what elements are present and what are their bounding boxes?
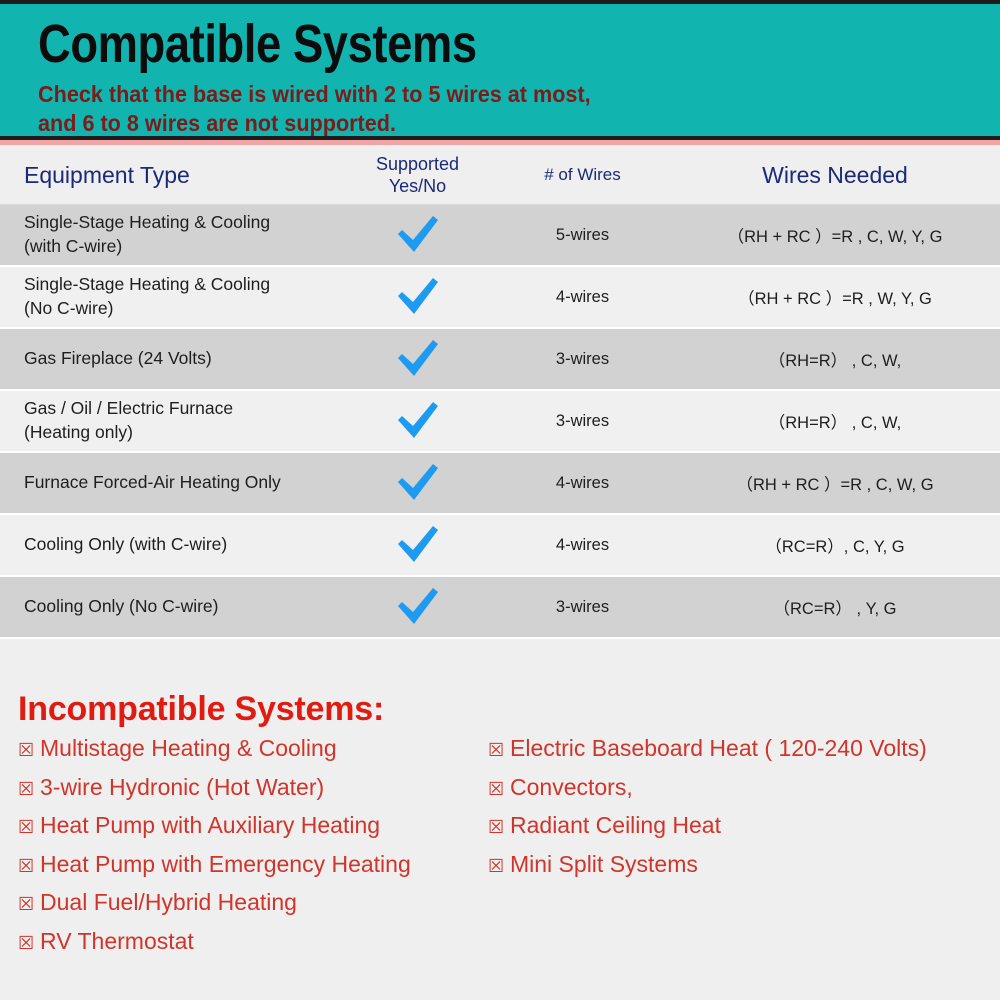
cell-num-wires: 3-wires xyxy=(495,350,670,369)
cell-num-wires: 3-wires xyxy=(495,412,670,431)
incompatible-list-item: ☒3-wire Hydronic (Hot Water) xyxy=(18,774,488,813)
incompatible-item-label: Electric Baseboard Heat ( 120-240 Volts) xyxy=(510,735,927,762)
incompatible-list-item: ☒RV Thermostat xyxy=(18,928,488,967)
cell-equipment-type: Single-Stage Heating & Cooling(No C-wire… xyxy=(0,273,340,320)
cell-equipment-type: Cooling Only (with C-wire) xyxy=(0,533,340,557)
check-icon xyxy=(395,338,441,380)
ballot-box-x-icon: ☒ xyxy=(18,779,40,800)
incompatible-right-column: ☒Electric Baseboard Heat ( 120-240 Volts… xyxy=(488,735,988,889)
cell-wires-needed: （RH=R） , C, W, xyxy=(670,347,1000,371)
cell-wires-needed: （RH + RC ）=R , C, W, G xyxy=(670,471,1000,495)
cell-num-wires: 4-wires xyxy=(495,288,670,307)
table-bottom-spacer xyxy=(0,639,1000,667)
incompatible-list-item: ☒Multistage Heating & Cooling xyxy=(18,735,488,774)
check-icon xyxy=(395,276,441,318)
table-row: Gas / Oil / Electric Furnace(Heating onl… xyxy=(0,391,1000,453)
incompatible-columns: ☒Multistage Heating & Cooling☒3-wire Hyd… xyxy=(0,735,1000,995)
column-header-num-wires: # of Wires xyxy=(495,165,670,185)
table-row: Single-Stage Heating & Cooling(No C-wire… xyxy=(0,267,1000,329)
cell-supported xyxy=(340,462,495,504)
cell-supported xyxy=(340,586,495,628)
cell-num-wires: 5-wires xyxy=(495,226,670,245)
check-icon xyxy=(395,586,441,628)
incompatible-item-label: Mini Split Systems xyxy=(510,851,698,878)
equipment-type-line1: Gas Fireplace (24 Volts) xyxy=(24,347,340,371)
incompatible-item-label: Dual Fuel/Hybrid Heating xyxy=(40,889,297,916)
column-header-supported: Supported Yes/No xyxy=(340,153,495,198)
ballot-box-x-icon: ☒ xyxy=(18,894,40,915)
incompatible-item-label: Convectors, xyxy=(510,774,633,801)
equipment-type-line2: (with C-wire) xyxy=(24,235,340,259)
equipment-type-line1: Cooling Only (No C-wire) xyxy=(24,595,340,619)
incompatible-section: Incompatible Systems: ☒Multistage Heatin… xyxy=(0,690,1000,995)
table-row: Furnace Forced-Air Heating Only4-wires（R… xyxy=(0,453,1000,515)
incompatible-left-column: ☒Multistage Heating & Cooling☒3-wire Hyd… xyxy=(18,735,488,966)
incompatible-item-label: 3-wire Hydronic (Hot Water) xyxy=(40,774,324,801)
incompatible-list-item: ☒Mini Split Systems xyxy=(488,851,988,890)
cell-wires-needed: （RH=R） , C, W, xyxy=(670,409,1000,433)
cell-supported xyxy=(340,214,495,256)
equipment-type-line1: Single-Stage Heating & Cooling xyxy=(24,273,340,297)
check-icon xyxy=(395,524,441,566)
check-icon xyxy=(395,400,441,442)
cell-equipment-type: Furnace Forced-Air Heating Only xyxy=(0,471,340,495)
incompatible-item-label: Heat Pump with Auxiliary Heating xyxy=(40,812,380,839)
cell-wires-needed: （RH + RC ）=R , C, W, Y, G xyxy=(670,223,1000,247)
incompatible-title: Incompatible Systems: xyxy=(0,690,1000,729)
table-row: Cooling Only (with C-wire)4-wires（RC=R）,… xyxy=(0,515,1000,577)
cell-wires-needed: （RC=R）, C, Y, G xyxy=(670,533,1000,557)
cell-num-wires: 4-wires xyxy=(495,536,670,555)
column-header-supported-line2: Yes/No xyxy=(340,175,495,198)
equipment-type-line2: (No C-wire) xyxy=(24,297,340,321)
ballot-box-x-icon: ☒ xyxy=(488,779,510,800)
table-header-row: Equipment Type Supported Yes/No # of Wir… xyxy=(0,146,1000,205)
cell-supported xyxy=(340,400,495,442)
table-body: Single-Stage Heating & Cooling(with C-wi… xyxy=(0,205,1000,639)
banner-subtitle: Check that the base is wired with 2 to 5… xyxy=(38,80,591,139)
ballot-box-x-icon: ☒ xyxy=(18,740,40,761)
check-icon xyxy=(395,214,441,256)
incompatible-list-item: ☒Electric Baseboard Heat ( 120-240 Volts… xyxy=(488,735,988,774)
cell-equipment-type: Cooling Only (No C-wire) xyxy=(0,595,340,619)
incompatible-item-label: RV Thermostat xyxy=(40,928,194,955)
check-icon xyxy=(395,462,441,504)
incompatible-list-item: ☒Dual Fuel/Hybrid Heating xyxy=(18,889,488,928)
banner-subtitle-line2: and 6 to 8 wires are not supported. xyxy=(38,109,591,138)
incompatible-item-label: Heat Pump with Emergency Heating xyxy=(40,851,411,878)
header-banner: Compatible Systems Check that the base i… xyxy=(0,0,1000,140)
cell-equipment-type: Gas Fireplace (24 Volts) xyxy=(0,347,340,371)
incompatible-list-item: ☒Radiant Ceiling Heat xyxy=(488,812,988,851)
ballot-box-x-icon: ☒ xyxy=(18,856,40,877)
compatibility-infographic: Compatible Systems Check that the base i… xyxy=(0,0,1000,1000)
equipment-type-line2: (Heating only) xyxy=(24,421,340,445)
compatibility-table: Equipment Type Supported Yes/No # of Wir… xyxy=(0,146,1000,667)
incompatible-list-item: ☒Heat Pump with Auxiliary Heating xyxy=(18,812,488,851)
table-row: Single-Stage Heating & Cooling(with C-wi… xyxy=(0,205,1000,267)
ballot-box-x-icon: ☒ xyxy=(488,817,510,838)
cell-wires-needed: （RH + RC ）=R , W, Y, G xyxy=(670,285,1000,309)
incompatible-list-item: ☒Heat Pump with Emergency Heating xyxy=(18,851,488,890)
cell-wires-needed: （RC=R） , Y, G xyxy=(670,595,1000,619)
equipment-type-line1: Furnace Forced-Air Heating Only xyxy=(24,471,340,495)
page-title: Compatible Systems xyxy=(38,16,477,73)
cell-num-wires: 3-wires xyxy=(495,598,670,617)
incompatible-list-item: ☒Convectors, xyxy=(488,774,988,813)
cell-supported xyxy=(340,338,495,380)
equipment-type-line1: Cooling Only (with C-wire) xyxy=(24,533,340,557)
cell-equipment-type: Gas / Oil / Electric Furnace(Heating onl… xyxy=(0,397,340,444)
cell-supported xyxy=(340,276,495,318)
incompatible-item-label: Radiant Ceiling Heat xyxy=(510,812,721,839)
column-header-supported-line1: Supported xyxy=(340,153,495,176)
banner-underline xyxy=(0,140,1000,145)
equipment-type-line1: Single-Stage Heating & Cooling xyxy=(24,211,340,235)
incompatible-item-label: Multistage Heating & Cooling xyxy=(40,735,337,762)
equipment-type-line1: Gas / Oil / Electric Furnace xyxy=(24,397,340,421)
column-header-equipment-type: Equipment Type xyxy=(0,162,340,189)
ballot-box-x-icon: ☒ xyxy=(18,933,40,954)
cell-supported xyxy=(340,524,495,566)
column-header-wires-needed: Wires Needed xyxy=(670,162,1000,189)
cell-equipment-type: Single-Stage Heating & Cooling(with C-wi… xyxy=(0,211,340,258)
table-row: Gas Fireplace (24 Volts)3-wires（RH=R） , … xyxy=(0,329,1000,391)
table-row: Cooling Only (No C-wire)3-wires（RC=R） , … xyxy=(0,577,1000,639)
ballot-box-x-icon: ☒ xyxy=(488,856,510,877)
cell-num-wires: 4-wires xyxy=(495,474,670,493)
ballot-box-x-icon: ☒ xyxy=(18,817,40,838)
banner-subtitle-line1: Check that the base is wired with 2 to 5… xyxy=(38,80,591,109)
ballot-box-x-icon: ☒ xyxy=(488,740,510,761)
